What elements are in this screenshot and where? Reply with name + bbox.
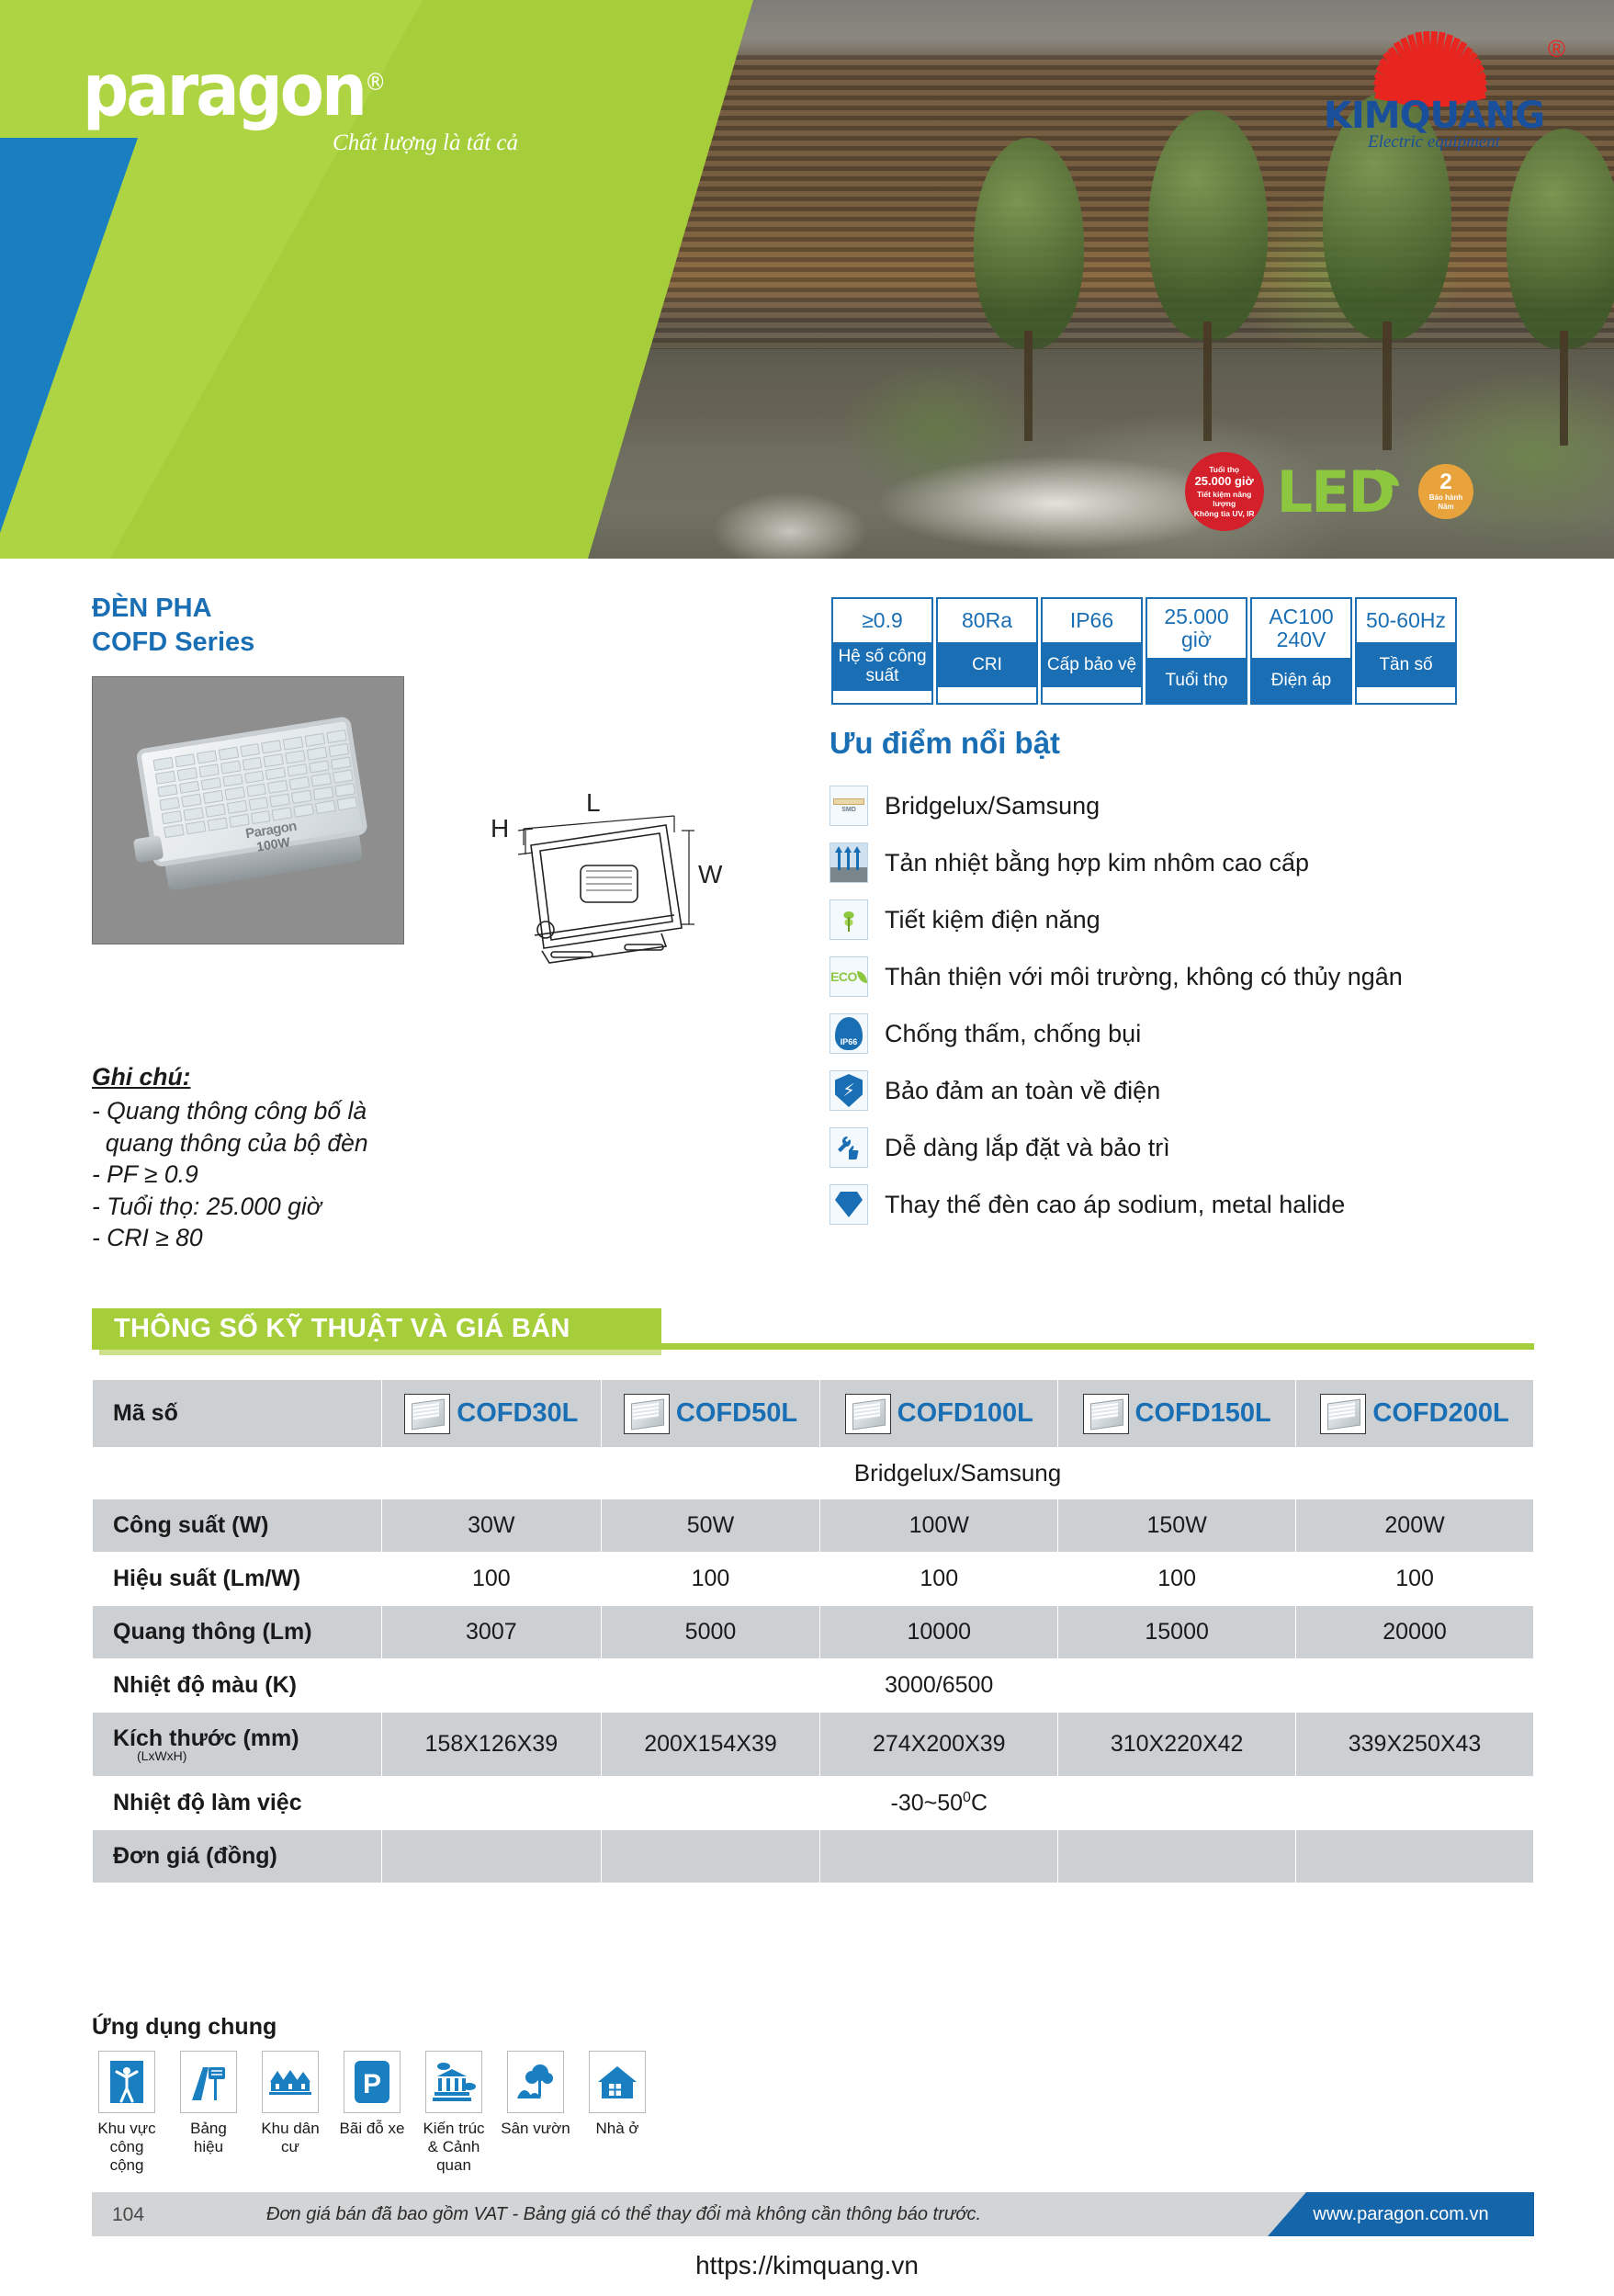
paragon-logo: Paragon® Chất lượng là tất cả [83,55,524,156]
application-item: Bảng hiệu [174,2051,243,2175]
table-row-chip-brand: Bridgelux/Samsung [93,1448,1534,1499]
row-value [1058,1830,1296,1883]
feature-label: Dễ dàng lắp đặt và bảo trì [885,1134,1170,1162]
spec-badge-label: Hệ số công suất [833,642,931,691]
smd-chip-icon: SMD [830,786,868,826]
row-value: 310X220X42 [1058,1713,1296,1777]
application-item: Khu vực công cộng [92,2051,162,2175]
eco-leaf-icon: ECO [830,956,868,997]
house-icon [589,2051,646,2113]
spec-badge-value: ≥0.9 [833,599,931,642]
product-column-header: COFD200L [1296,1380,1534,1448]
application-label: Khu dân cư [255,2120,325,2156]
svg-text:P: P [363,2069,381,2099]
row-label: Kích thước (mm) (LxWxH) [93,1713,382,1777]
product-thumbnail-icon [1320,1394,1366,1434]
hero-badge-group: Tuổi thọ 25.000 giờ Tiết kiệm năng lượng… [1185,452,1485,531]
row-value: 200W [1296,1499,1534,1553]
footer-note: Đơn giá bán đã bao gồm VAT - Bảng giá có… [266,2204,981,2225]
row-value [1296,1830,1534,1883]
features-list: SMD Bridgelux/Samsung Tản nhiệt bằng hợp… [830,777,1564,1233]
row-value: -30~500C [820,1777,1058,1830]
heat-sink-icon [830,843,868,883]
spec-badge-label: Điện áp [1252,658,1350,703]
product-thumbnail-icon [624,1394,670,1434]
page-number: 104 [112,2204,144,2226]
specs-table: Mã số COFD30L COFD50L COFD100L COFD150L [92,1379,1534,1883]
lifetime-badge-line4: Không tia UV, IR [1194,509,1255,519]
spec-badge-frequency: 50-60Hz Tần số [1355,597,1457,705]
row-value: 10000 [820,1606,1058,1659]
row-value [820,1830,1058,1883]
hero-banner: Paragon® Chất lượng là tất cả ® KIMQUANG… [0,0,1614,559]
architecture-icon [425,2051,482,2113]
application-label: Nhà ở [582,2120,652,2138]
row-value [601,1830,820,1883]
ip66-waterproof-icon: IP66 [830,1013,868,1054]
product-code: COFD50L [676,1398,797,1429]
product-code: COFD150L [1135,1398,1271,1429]
table-row: Công suất (W) 30W 50W 100W 150W 200W [93,1499,1534,1553]
feature-item: SMD Bridgelux/Samsung [830,777,1564,834]
decor-tree [1148,110,1268,340]
decor-trunk [1203,322,1212,441]
feature-item: IP66 Chống thấm, chống bụi [830,1005,1564,1062]
led-badge-text: LED [1277,458,1394,526]
spec-badge-voltage: AC100 240V Điện áp [1250,597,1352,705]
lifetime-badge: Tuổi thọ 25.000 giờ Tiết kiệm năng lượng… [1185,452,1264,531]
chip-brand-value: Bridgelux/Samsung [382,1448,1534,1499]
spec-badge-label: CRI [938,642,1036,687]
spec-badge-ip-rating: IP66 Cấp bảo vệ [1041,597,1143,705]
lifetime-badge-line1: Tuổi thọ [1209,465,1239,475]
row-value: 150W [1058,1499,1296,1553]
kimquang-name: KIMQUANG [1282,97,1586,134]
table-row: Hiệu suất (Lm/W) 100 100 100 100 100 [93,1553,1534,1606]
row-label: Đơn giá (đồng) [93,1830,382,1883]
feature-item: Tản nhiệt bằng hợp kim nhôm cao cấp [830,834,1564,891]
row-label-main: Kích thước (mm) [113,1725,299,1751]
note-line: - Tuổi thọ: 25.000 giờ [92,1191,487,1222]
product-photo: Paragon 100W [92,676,404,944]
shield-bolt-icon: ⚡ [830,1070,868,1111]
features-heading: Ưu điểm nổi bật [830,726,1060,761]
paragon-logo-text: Paragon [83,50,365,132]
product-column-header: COFD100L [820,1380,1058,1448]
product-thumbnail-icon [1083,1394,1129,1434]
registered-mark-icon: ® [1548,35,1565,63]
warranty-label2: Năm [1438,503,1453,512]
feature-label: Tản nhiệt bằng hợp kim nhôm cao cấp [885,849,1309,877]
spec-badge-cri: 80Ra CRI [936,597,1038,705]
product-title-line2: COFD Series [92,626,254,660]
row-value: 100 [601,1553,820,1606]
row-value: 100W [820,1499,1058,1553]
parking-icon: P [344,2051,401,2113]
product-column-header: COFD150L [1058,1380,1296,1448]
billboard-icon [180,2051,237,2113]
application-item: Nhà ở [582,2051,652,2175]
product-code: COFD200L [1372,1398,1508,1429]
notes-block: Ghi chú: - Quang thông công bố là quang … [92,1061,487,1254]
product-code: COFD30L [457,1398,578,1429]
table-header-label: Mã số [93,1380,382,1448]
product-title-line1: ĐÈN PHA [92,592,254,626]
lifetime-badge-line3: Tiết kiệm năng lượng [1191,490,1258,509]
product-column-header: COFD50L [601,1380,820,1448]
dimension-diagram: L H W [478,790,753,974]
table-row: Nhiệt độ làm việc -30~500C [93,1777,1534,1830]
paragon-tagline: Chất lượng là tất cả [83,130,524,156]
row-value: 100 [1296,1553,1534,1606]
row-value: 100 [382,1553,602,1606]
registered-mark-icon: ® [365,69,383,96]
decor-trunk [1024,331,1033,441]
product-column-header: COFD30L [382,1380,602,1448]
spec-badge-label: Tần số [1357,642,1455,687]
application-label: Kiến trúc & Cảnh quan [419,2120,489,2175]
applications-heading: Ứng dụng chung [92,2014,277,2041]
application-item: Khu dân cư [255,2051,325,2175]
website-link[interactable]: www.paragon.com.vn [1268,2192,1534,2236]
table-row: Kích thước (mm) (LxWxH) 158X126X39 200X1… [93,1713,1534,1777]
decor-trunk [1560,331,1568,446]
row-value: 274X200X39 [820,1713,1058,1777]
spec-badge-lifetime: 25.000 giờ Tuổi thọ [1146,597,1247,705]
application-label: Sân vườn [501,2120,570,2138]
spec-badge-value: 25.000 giờ [1147,599,1246,658]
application-label: Khu vực công cộng [92,2120,162,2175]
row-value: 100 [820,1553,1058,1606]
row-value: 15000 [1058,1606,1296,1659]
warranty-years: 2 [1439,471,1451,493]
decor-tree [974,138,1084,349]
row-value: 20000 [1296,1606,1534,1659]
row-value: 3000/6500 [820,1659,1058,1713]
spec-badge-row: ≥0.9 Hệ số công suất 80Ra CRI IP66 Cấp b… [831,597,1457,705]
kimquang-logo: ® KIMQUANG Electric equipment [1279,17,1582,145]
feature-label: Bảo đảm an toàn về điện [885,1077,1160,1105]
page-footer: 104 Đơn giá bán đã bao gồm VAT - Bảng gi… [92,2192,1534,2236]
row-value [382,1830,602,1883]
row-label: Hiệu suất (Lm/W) [93,1553,382,1606]
feature-item: ⚡ Bảo đảm an toàn về điện [830,1062,1564,1119]
spec-badge-value: 50-60Hz [1357,599,1455,642]
feature-label: Thay thế đèn cao áp sodium, metal halide [885,1191,1345,1219]
row-value: 200X154X39 [601,1713,820,1777]
feature-item: Tiết kiệm điện năng [830,891,1564,948]
application-label: Bảng hiệu [174,2120,243,2156]
row-value: 50W [601,1499,820,1553]
kimquang-subtitle: Electric equipment [1282,132,1586,153]
feature-item: ECO Thân thiện với môi trường, không có … [830,948,1564,1005]
floodlight-illustration: Paragon 100W [127,715,378,900]
feature-label: Thân thiện với môi trường, không có thủy… [885,963,1403,991]
row-label: Công suất (W) [93,1499,382,1553]
application-label: Bãi đỗ xe [337,2120,407,2138]
product-thumbnail-icon [404,1394,450,1434]
table-row: Nhiệt độ màu (K) 3000/6500 [93,1659,1534,1713]
table-header-row: Mã số COFD30L COFD50L COFD100L COFD150L [93,1380,1534,1448]
product-code: COFD100L [897,1398,1033,1429]
dimension-label-width: W [698,860,722,889]
row-value: 3007 [382,1606,602,1659]
distributor-url[interactable]: https://kimquang.vn [0,2251,1614,2280]
note-line: - PF ≥ 0.9 [92,1159,487,1190]
residential-icon [262,2051,319,2113]
note-line: - Quang thông công bố là quang thông của… [92,1095,487,1159]
specs-section-header: THÔNG SỐ KỸ THUẬT VÀ GIÁ BÁN [92,1308,1534,1354]
notes-heading: Ghi chú: [92,1061,487,1092]
feature-label: Chống thấm, chống bụi [885,1020,1141,1048]
decor-trunk [1383,322,1392,450]
application-item: Sân vườn [501,2051,570,2175]
decor-tree [1507,129,1614,349]
energy-saving-icon [830,899,868,940]
led-badge: LED [1277,458,1394,526]
feature-item: Thay thế đèn cao áp sodium, metal halide [830,1176,1564,1233]
section-header-label: THÔNG SỐ KỸ THUẬT VÀ GIÁ BÁN [92,1308,661,1350]
dimension-label-length: L [586,788,601,818]
public-area-icon [98,2051,155,2113]
application-item: Kiến trúc & Cảnh quan [419,2051,489,2175]
applications-list: Khu vực công cộng Bảng hiệu Khu dân cư [92,2051,652,2175]
floodlight-knob [133,835,164,863]
spec-badge-value: IP66 [1043,599,1141,642]
feature-label: Tiết kiệm điện năng [885,906,1100,934]
note-line: - CRI ≥ 80 [92,1222,487,1253]
spec-badge-value: AC100 240V [1252,599,1350,658]
warranty-label1: Bảo hành [1429,493,1462,503]
warranty-badge: 2 Bảo hành Năm [1406,452,1485,531]
application-item: P Bãi đỗ xe [337,2051,407,2175]
table-row: Quang thông (Lm) 3007 5000 10000 15000 2… [93,1606,1534,1659]
spec-badge-value: 80Ra [938,599,1036,642]
dimension-label-height: H [491,814,509,843]
spec-badge-label: Cấp bảo vệ [1043,642,1141,687]
product-thumbnail-icon [845,1394,891,1434]
table-row: Đơn giá (đồng) [93,1830,1534,1883]
page-title: ĐÈN PHA COFD Series [92,592,254,660]
garden-icon [507,2051,564,2113]
diamond-icon [830,1184,868,1225]
row-value: 339X250X43 [1296,1713,1534,1777]
row-value: 158X126X39 [382,1713,602,1777]
row-value: 5000 [601,1606,820,1659]
feature-label: Bridgelux/Samsung [885,792,1100,820]
row-label: Nhiệt độ làm việc [93,1777,382,1830]
spec-badge-label: Tuổi thọ [1147,658,1246,703]
row-label: Nhiệt độ màu (K) [93,1659,382,1713]
row-label: Quang thông (Lm) [93,1606,382,1659]
feature-item: Dễ dàng lắp đặt và bảo trì [830,1119,1564,1176]
row-value: 30W [382,1499,602,1553]
lifetime-badge-line2: 25.000 giờ [1195,474,1254,489]
spec-badge-power-factor: ≥0.9 Hệ số công suất [831,597,933,705]
wrench-thumbup-icon [830,1127,868,1168]
row-value: 100 [1058,1553,1296,1606]
